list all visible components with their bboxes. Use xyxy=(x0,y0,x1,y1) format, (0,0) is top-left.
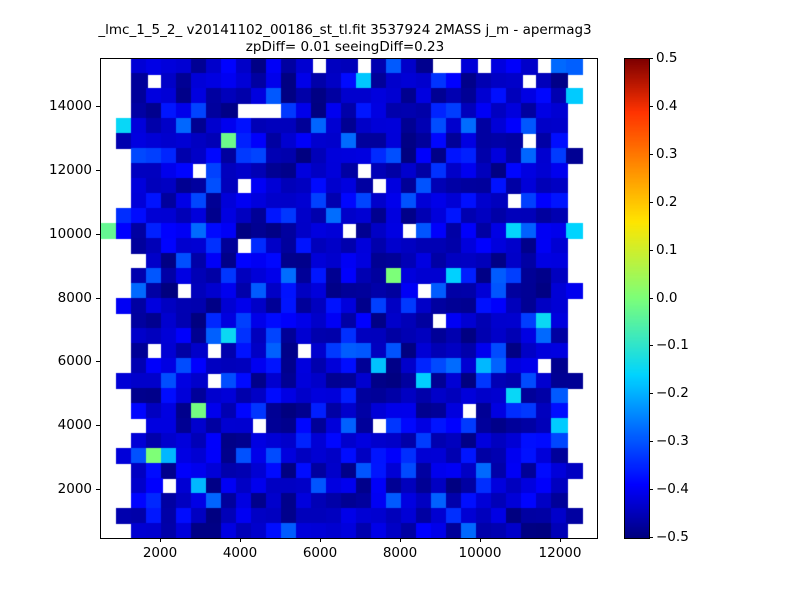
y-tick-label: 10000 xyxy=(4,226,92,242)
chart-title-line-2: zpDiff= 0.01 seeingDiff=0.23 xyxy=(0,39,690,56)
y-tick-mark xyxy=(96,234,100,235)
colorbar-tick-mark xyxy=(649,154,653,155)
chart-title-line-1: _lmc_1_5_2_ v20141102_00186_st_tl.fit 35… xyxy=(0,22,690,39)
y-tick-mark xyxy=(96,170,100,171)
colorbar-tick-mark xyxy=(649,58,653,59)
x-tick-mark xyxy=(400,538,401,542)
colorbar-tick-mark xyxy=(649,489,653,490)
x-tick-label: 4000 xyxy=(223,545,257,561)
y-tick-label: 14000 xyxy=(4,98,92,114)
colorbar-tick-mark xyxy=(649,106,653,107)
y-tick-mark xyxy=(96,425,100,426)
x-tick-mark xyxy=(320,538,321,542)
y-tick-label: 2000 xyxy=(4,481,92,497)
heatmap-plot-area xyxy=(100,58,598,539)
x-tick-mark xyxy=(240,538,241,542)
colorbar-tick-label: −0.4 xyxy=(656,481,689,497)
y-tick-mark xyxy=(96,361,100,362)
colorbar-tick-label: 0.0 xyxy=(656,290,677,306)
y-tick-mark xyxy=(96,106,100,107)
colorbar-tick-label: −0.3 xyxy=(656,433,689,449)
x-tick-label: 8000 xyxy=(383,545,417,561)
x-tick-label: 2000 xyxy=(143,545,177,561)
y-tick-label: 6000 xyxy=(4,353,92,369)
x-tick-label: 10000 xyxy=(459,545,502,561)
y-tick-label: 12000 xyxy=(4,162,92,178)
x-tick-label: 6000 xyxy=(303,545,337,561)
colorbar-tick-mark xyxy=(649,393,653,394)
colorbar-tick-mark xyxy=(649,250,653,251)
colorbar-tick-mark xyxy=(649,441,653,442)
colorbar-tick-label: −0.5 xyxy=(656,529,689,545)
colorbar-tick-label: 0.3 xyxy=(656,146,677,162)
y-tick-mark xyxy=(96,489,100,490)
colorbar-tick-mark xyxy=(649,202,653,203)
x-tick-mark xyxy=(160,538,161,542)
y-tick-mark xyxy=(96,298,100,299)
colorbar-tick-label: 0.5 xyxy=(656,50,677,66)
x-tick-label: 12000 xyxy=(539,545,582,561)
colorbar-tick-mark xyxy=(649,298,653,299)
chart-title: _lmc_1_5_2_ v20141102_00186_st_tl.fit 35… xyxy=(0,22,690,56)
colorbar-tick-label: 0.1 xyxy=(656,242,677,258)
y-tick-label: 4000 xyxy=(4,417,92,433)
y-tick-label: 8000 xyxy=(4,290,92,306)
colorbar-tick-mark xyxy=(649,537,653,538)
colorbar-tick-label: −0.2 xyxy=(656,385,689,401)
colorbar-gradient xyxy=(625,59,649,538)
colorbar xyxy=(624,58,650,539)
x-tick-mark xyxy=(480,538,481,542)
colorbar-tick-mark xyxy=(649,345,653,346)
colorbar-tick-label: 0.2 xyxy=(656,194,677,210)
heatmap-image xyxy=(101,59,597,538)
colorbar-tick-label: 0.4 xyxy=(656,98,677,114)
colorbar-tick-label: −0.1 xyxy=(656,337,689,353)
x-tick-mark xyxy=(560,538,561,542)
